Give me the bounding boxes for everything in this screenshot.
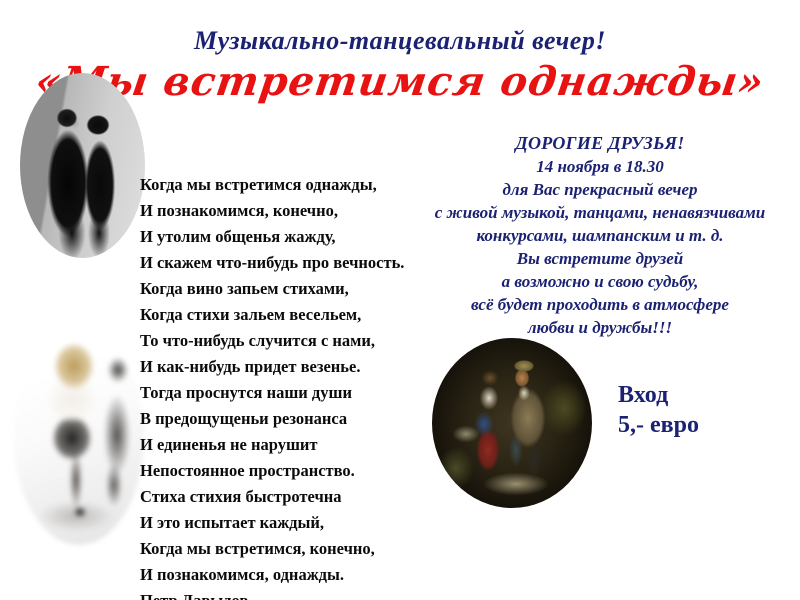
poem-line: И познакомимся, конечно,	[140, 198, 430, 224]
poem-line: Когда вино запьем стихами,	[140, 276, 430, 302]
invitation-line: конкурсами, шампанским и т. д.	[400, 224, 800, 247]
painting-couple-oval-icon	[432, 338, 592, 508]
invitation-line: а возможно и свою судьбу,	[400, 270, 800, 293]
poem-line: И единенья не нарушит	[140, 432, 430, 458]
photo-couple-standing-bw-icon	[20, 73, 145, 258]
poem-line: Стиха стихия быстротечна	[140, 484, 430, 510]
poem-line: И это испытает каждый,	[140, 510, 430, 536]
invitation-line: 14 ноября в 18.30	[400, 155, 800, 178]
poem-line: То что-нибудь случится с нами,	[140, 328, 430, 354]
poem-line: И познакомимся, однажды.	[140, 562, 430, 588]
poem-line: Тогда проснутся наши души	[140, 380, 430, 406]
poem-author: Петр Давыдов	[140, 588, 430, 600]
invitation-text: ДОРОГИЕ ДРУЗЬЯ! 14 ноября в 18.30 для Ва…	[400, 132, 800, 339]
poem-line: Когда мы встретимся, конечно,	[140, 536, 430, 562]
poster-canvas: Музыкально-танцевальный вечер! «Мы встре…	[0, 0, 800, 600]
poem-line: И скажем что-нибудь про вечность.	[140, 250, 430, 276]
invitation-line: ДОРОГИЕ ДРУЗЬЯ!	[400, 132, 800, 155]
invitation-line: Вы встретите друзей	[400, 247, 800, 270]
photo-dancing-couple-blurred-icon	[14, 330, 144, 545]
invitation-line: всё будет проходить в атмосфере	[400, 293, 800, 316]
entry-price: 5,- евро	[618, 410, 699, 440]
poem-line: Когда стихи зальем весельем,	[140, 302, 430, 328]
poem-line: В предощущеньи резонанса	[140, 406, 430, 432]
poem-line: И как-нибудь придет везенье.	[140, 354, 430, 380]
entry-price-block: Вход 5,- евро	[618, 380, 699, 440]
entry-label: Вход	[618, 380, 699, 410]
poem-line: И утолим общенья жажду,	[140, 224, 430, 250]
invitation-line: для Вас прекрасный вечер	[400, 178, 800, 201]
invitation-line: любви и дружбы!!!	[400, 316, 800, 339]
poem-text: Когда мы встретимся однажды, И познакоми…	[140, 172, 430, 600]
poster-title-primary: Музыкально-танцевальный вечер!	[0, 26, 800, 56]
invitation-line: с живой музыкой, танцами, ненавязчивами	[400, 201, 800, 224]
poem-line: Непостоянное пространство.	[140, 458, 430, 484]
poem-line: Когда мы встретимся однажды,	[140, 172, 430, 198]
